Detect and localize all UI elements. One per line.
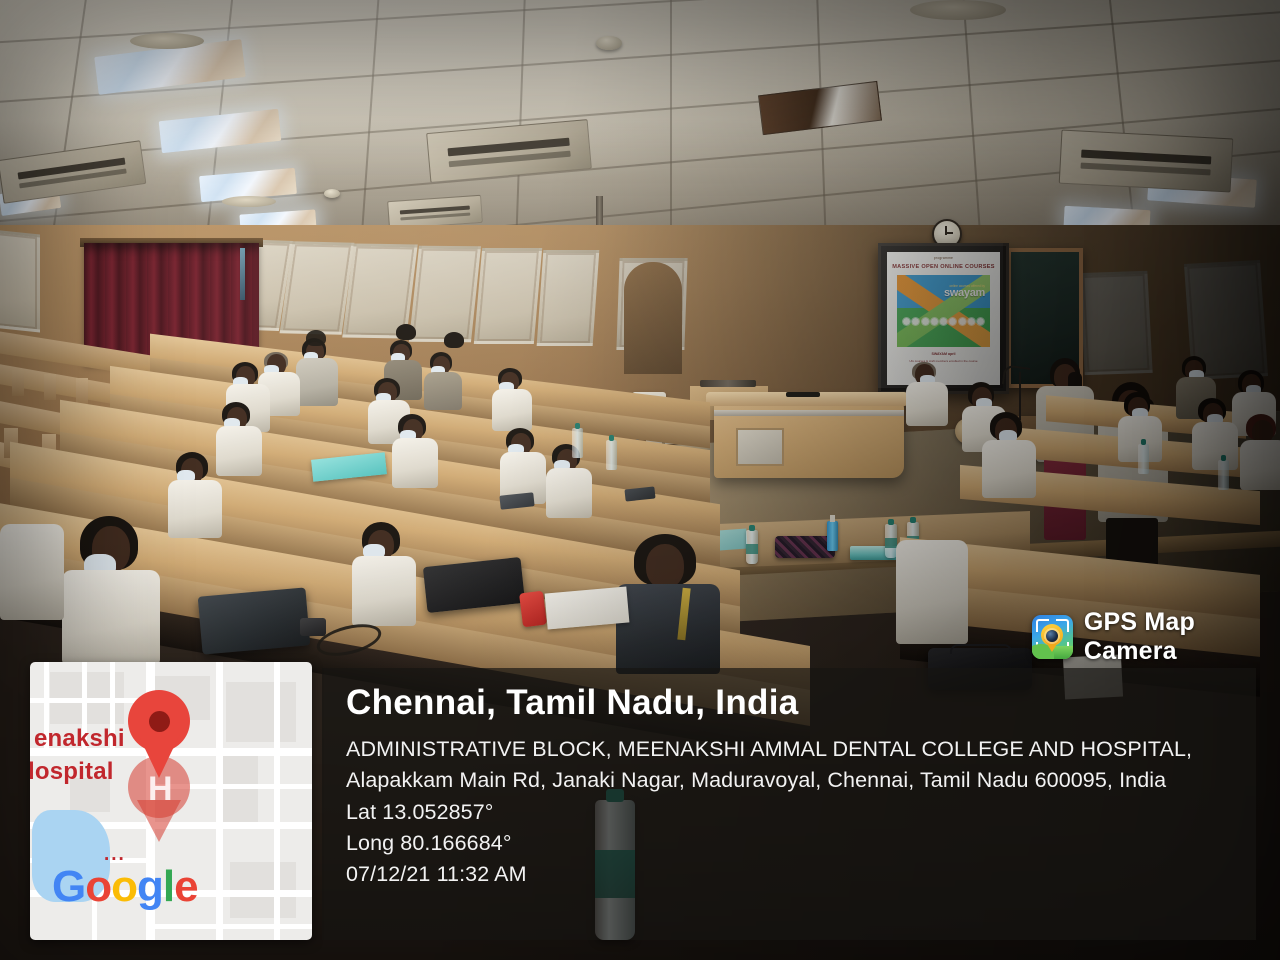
- logo-letter: g: [137, 862, 163, 911]
- red-phone-case: [519, 591, 547, 628]
- capture-timestamp: 07/12/21 11:32 AM: [346, 859, 1256, 890]
- audience-member: [906, 362, 950, 426]
- logo-letter: o: [85, 862, 111, 911]
- swayam-wordmark-block: online courses offered by swayam: [944, 285, 985, 299]
- white-coat: [392, 438, 438, 488]
- audience-member: [1192, 398, 1240, 470]
- longitude-value: Long 80.166684°: [346, 828, 1256, 859]
- smoke-detector: [596, 36, 622, 50]
- audience-member-standing: [440, 332, 472, 374]
- water-bottle: [606, 440, 617, 470]
- gps-map-camera-photo: programme MASSIVE OPEN ONLINE COURSES on…: [0, 0, 1280, 960]
- logo-letter: o: [111, 862, 137, 911]
- slide-icon: [968, 318, 975, 325]
- bench-slat: [12, 370, 24, 396]
- audience-member: [896, 540, 972, 656]
- audience-member: [492, 368, 534, 430]
- white-coat: [352, 556, 416, 626]
- white-coat: [62, 570, 160, 664]
- hair: [396, 324, 416, 340]
- slide-title: MASSIVE OPEN ONLINE COURSES: [887, 264, 1000, 270]
- white-coat: [1192, 422, 1238, 470]
- water-bottle: [1218, 460, 1229, 490]
- audience-member: [168, 452, 224, 538]
- audience-member: [982, 412, 1038, 498]
- bench-slat: [44, 374, 56, 400]
- map-thumbnail[interactable]: enakshi lospital H ... Google: [30, 662, 312, 940]
- audience-member: [546, 444, 594, 518]
- hair: [306, 330, 326, 346]
- address-line-2: Alapakkam Main Rd, Janaki Nagar, Madurav…: [346, 765, 1256, 796]
- audience-member-standing: [392, 324, 424, 366]
- slide-icon-row: [903, 318, 984, 325]
- white-coat: [982, 440, 1036, 498]
- location-title: Chennai, Tamil Nadu, India: [346, 684, 1256, 722]
- gps-map-camera-icon: [1032, 615, 1073, 659]
- t-shirt: [616, 584, 720, 674]
- water-bottle: [746, 530, 758, 564]
- laptop: [198, 587, 311, 654]
- white-coat: [1240, 440, 1280, 490]
- paper-documents: [545, 586, 630, 629]
- map-road: [216, 662, 223, 940]
- remote-control: [786, 392, 820, 397]
- slide-icon: [949, 318, 956, 325]
- ceiling-speaker: [910, 0, 1006, 20]
- slide-icon: [922, 318, 929, 325]
- logo-letter: e: [174, 862, 197, 911]
- gps-map-camera-watermark: GPS Map Camera: [1032, 608, 1280, 666]
- audience-member: [392, 414, 440, 488]
- logo-letter: l: [163, 862, 174, 911]
- slide-programme-label: programme: [887, 256, 1000, 260]
- slide-footer-primary: SWAYAM april: [891, 352, 996, 356]
- map-road: [274, 662, 280, 940]
- presentation-desk-panel: [736, 428, 784, 466]
- white-coat: [492, 389, 532, 431]
- slide-icon: [903, 318, 910, 325]
- gps-map-camera-label: GPS Map Camera: [1084, 608, 1280, 666]
- desk-items: [700, 380, 756, 387]
- audience-member: [62, 516, 162, 664]
- map-road: [155, 924, 312, 929]
- google-logo: Google: [52, 862, 198, 912]
- slide-icon: [931, 318, 938, 325]
- bench-slat: [76, 378, 88, 404]
- ceiling-speaker: [222, 196, 276, 207]
- audience-member: [1240, 414, 1280, 490]
- slide-icon: [912, 318, 919, 325]
- audience-member: [616, 534, 726, 674]
- white-coat: [0, 524, 64, 620]
- water-bottle: [1138, 444, 1149, 474]
- audience-member: [0, 500, 70, 620]
- white-coat: [896, 540, 968, 644]
- camera-lens-icon: [1046, 630, 1058, 642]
- smoke-detector: [324, 189, 340, 198]
- hair: [444, 332, 464, 348]
- water-bottle: [572, 428, 583, 458]
- map-road: [30, 698, 146, 703]
- white-coat: [906, 382, 948, 426]
- slide-icon: [959, 318, 966, 325]
- white-coat: [168, 480, 222, 538]
- map-block: [226, 682, 296, 742]
- pouch: [775, 536, 835, 558]
- power-adapter: [300, 618, 326, 636]
- slide-icon: [940, 318, 947, 325]
- address-line-1: ADMINISTRATIVE BLOCK, MEENAKSHI AMMAL DE…: [346, 734, 1256, 765]
- map-place-label-line2: lospital: [30, 758, 114, 786]
- map-pin-hole: [149, 711, 170, 732]
- ac-cassette-unit: [1059, 130, 1234, 193]
- slide-icon: [977, 318, 984, 325]
- ceiling-speaker: [130, 33, 204, 49]
- swayam-logo-artwork: online courses offered by swayam: [897, 275, 990, 347]
- latitude-value: Lat 13.052857°: [346, 797, 1256, 828]
- map-place-label-line1: enakshi: [34, 725, 125, 753]
- white-coat: [546, 468, 592, 518]
- audience-member: [352, 522, 418, 626]
- audience-member-standing: [300, 330, 336, 378]
- head: [646, 544, 684, 588]
- swayam-wordmark: swayam: [944, 288, 985, 299]
- location-info-panel: Chennai, Tamil Nadu, India ADMINISTRATIV…: [322, 668, 1256, 940]
- logo-letter: G: [52, 862, 85, 911]
- jacket: [424, 372, 462, 410]
- sanitizer-bottle: [827, 521, 838, 551]
